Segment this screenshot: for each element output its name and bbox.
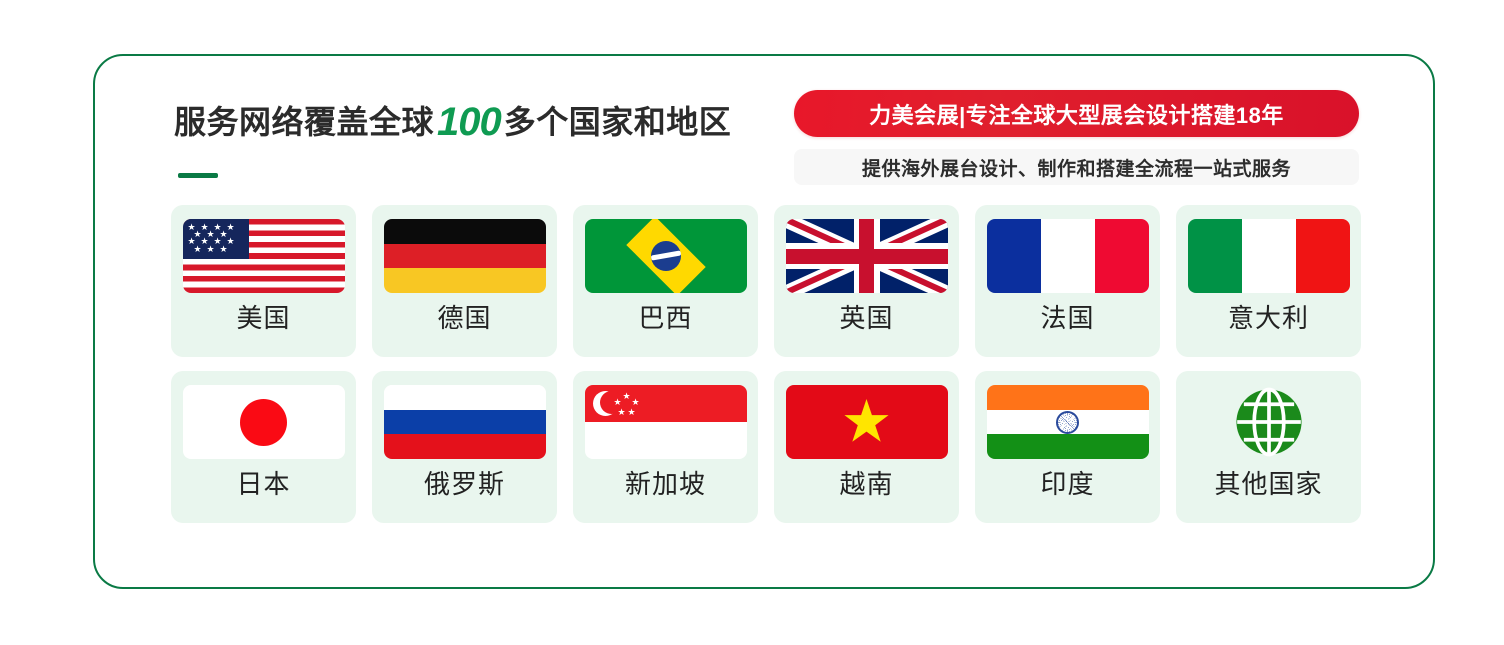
country-card-us[interactable]: ★ ★ ★ ★ ★ ★ ★ ★ ★ ★ ★ ★ ★ ★ 美国 — [171, 205, 356, 357]
country-label: 意大利 — [1228, 305, 1309, 331]
fr-flag-icon — [987, 219, 1149, 293]
country-card-gb[interactable]: 英国 — [774, 205, 959, 357]
promo-subtitle: 提供海外展台设计、制作和搭建全流程一站式服务 — [794, 149, 1359, 185]
promo-pill-badge: 力美会展|专注全球大型展会设计搭建18年 — [794, 90, 1359, 137]
it-flag-icon — [1188, 219, 1350, 293]
country-card-de[interactable]: 德国 — [372, 205, 557, 357]
country-card-other[interactable]: 其他国家 — [1176, 371, 1361, 523]
country-card-sg[interactable]: ★ ★ ★ ★ ★ 新加坡 — [573, 371, 758, 523]
page-title: 服务网络覆盖全球100多个国家和地区 — [174, 97, 731, 145]
country-label: 新加坡 — [625, 471, 706, 497]
jp-flag-icon — [183, 385, 345, 459]
ru-flag-icon — [384, 385, 546, 459]
country-label: 巴西 — [638, 305, 692, 331]
sg-flag-icon: ★ ★ ★ ★ ★ — [585, 385, 747, 459]
country-card-ru[interactable]: 俄罗斯 — [372, 371, 557, 523]
country-label: 其他国家 — [1214, 471, 1322, 497]
country-label: 英国 — [839, 305, 893, 331]
de-flag-icon — [384, 219, 546, 293]
br-flag-icon — [585, 219, 747, 293]
country-label: 德国 — [437, 305, 491, 331]
country-label: 俄罗斯 — [424, 471, 505, 497]
globe-icon — [1188, 385, 1350, 459]
country-card-br[interactable]: 巴西 — [573, 205, 758, 357]
country-card-fr[interactable]: 法国 — [975, 205, 1160, 357]
headline-prefix: 服务网络覆盖全球 — [174, 104, 434, 140]
country-label: 法国 — [1040, 305, 1094, 331]
country-label: 越南 — [839, 471, 893, 497]
headline-number: 100 — [434, 100, 504, 144]
us-flag-icon: ★ ★ ★ ★ ★ ★ ★ ★ ★ ★ ★ ★ ★ ★ — [183, 219, 345, 293]
country-label: 印度 — [1040, 471, 1094, 497]
vn-flag-icon — [786, 385, 948, 459]
country-grid: ★ ★ ★ ★ ★ ★ ★ ★ ★ ★ ★ ★ ★ ★ 美国 — [171, 205, 1361, 523]
panel-header: 服务网络覆盖全球100多个国家和地区 力美会展|专注全球大型展会设计搭建18年 … — [95, 56, 1433, 204]
country-label: 美国 — [236, 305, 290, 331]
headline-suffix: 多个国家和地区 — [504, 104, 732, 140]
gb-flag-icon — [786, 219, 948, 293]
promo-panel: 服务网络覆盖全球100多个国家和地区 力美会展|专注全球大型展会设计搭建18年 … — [93, 54, 1435, 589]
country-card-jp[interactable]: 日本 — [171, 371, 356, 523]
country-card-in[interactable]: 印度 — [975, 371, 1160, 523]
country-card-vn[interactable]: 越南 — [774, 371, 959, 523]
in-flag-icon — [987, 385, 1149, 459]
country-card-it[interactable]: 意大利 — [1176, 205, 1361, 357]
title-underline-rule — [178, 173, 218, 178]
country-label: 日本 — [236, 471, 290, 497]
promo-block: 力美会展|专注全球大型展会设计搭建18年 提供海外展台设计、制作和搭建全流程一站… — [794, 90, 1359, 185]
